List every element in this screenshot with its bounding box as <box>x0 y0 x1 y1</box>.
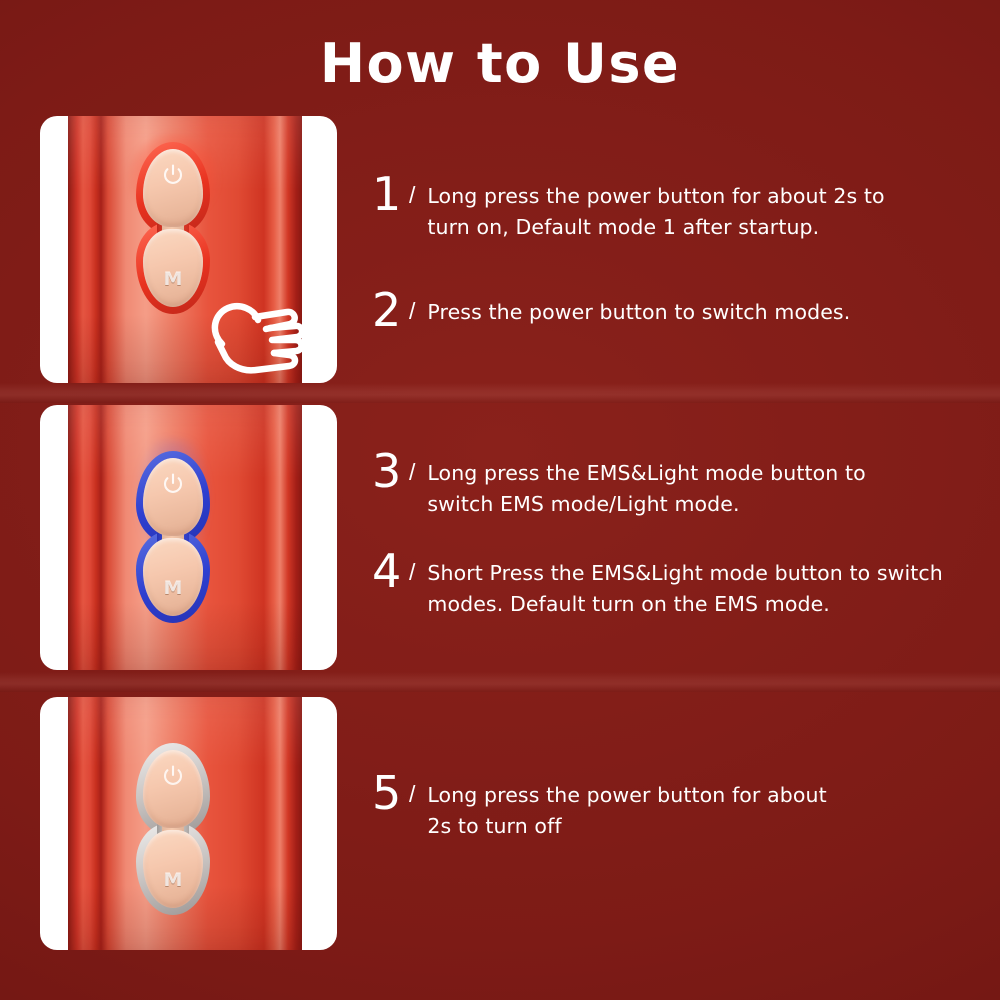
button-pad: M <box>136 743 210 915</box>
step-3: 3 / Long press the EMS&Light mode button… <box>372 449 917 520</box>
section-divider-2 <box>0 672 1000 692</box>
power-icon <box>136 473 210 495</box>
step-separator: / <box>406 172 427 218</box>
step-1: 1 / Long press the power button for abou… <box>372 172 932 243</box>
step-4: 4 / Short Press the EMS&Light mode butto… <box>372 549 967 620</box>
step-text: Press the power button to switch modes. <box>427 288 850 328</box>
page-title: How to Use <box>0 32 1000 95</box>
step-number: 5 <box>372 771 406 815</box>
step-text: Long press the power button for about 2s… <box>427 771 827 842</box>
product-photo-panel-2: M <box>40 405 337 670</box>
step-separator: / <box>406 549 427 595</box>
step-2: 2 / Press the power button to switch mod… <box>372 288 850 334</box>
step-5: 5 / Long press the power button for abou… <box>372 771 827 842</box>
mode-m-icon: M <box>136 577 210 599</box>
how-to-use-infographic: How to Use M <box>0 0 1000 1000</box>
step-text: Short Press the EMS&Light mode button to… <box>427 549 967 620</box>
mode-m-icon: M <box>136 869 210 891</box>
step-separator: / <box>406 771 427 817</box>
step-text: Long press the power button for about 2s… <box>427 172 932 243</box>
power-icon <box>136 765 210 787</box>
step-separator: / <box>406 449 427 495</box>
power-icon <box>136 164 210 186</box>
step-number: 2 <box>372 288 406 332</box>
mode-m-icon: M <box>136 268 210 290</box>
product-photo-panel-1: M <box>40 116 337 383</box>
step-number: 3 <box>372 449 406 493</box>
instruction-row-2: M 3 / Long press the EMS&Light <box>0 405 1000 670</box>
instruction-row-1: M 1 / Long press the power butt <box>0 116 1000 383</box>
step-number: 1 <box>372 172 406 216</box>
instruction-text-column-2: 3 / Long press the EMS&Light mode button… <box>358 405 968 670</box>
instruction-row-3: M 5 / Long press the power butt <box>0 697 1000 950</box>
step-text: Long press the EMS&Light mode button to … <box>427 449 917 520</box>
step-separator: / <box>406 288 427 334</box>
instruction-text-column-3: 5 / Long press the power button for abou… <box>358 697 968 950</box>
instruction-text-column-1: 1 / Long press the power button for abou… <box>358 116 968 383</box>
section-divider-1 <box>0 383 1000 403</box>
button-pad: M <box>136 142 210 314</box>
product-photo-panel-3: M <box>40 697 337 950</box>
button-pad: M <box>136 451 210 623</box>
step-number: 4 <box>372 549 406 593</box>
